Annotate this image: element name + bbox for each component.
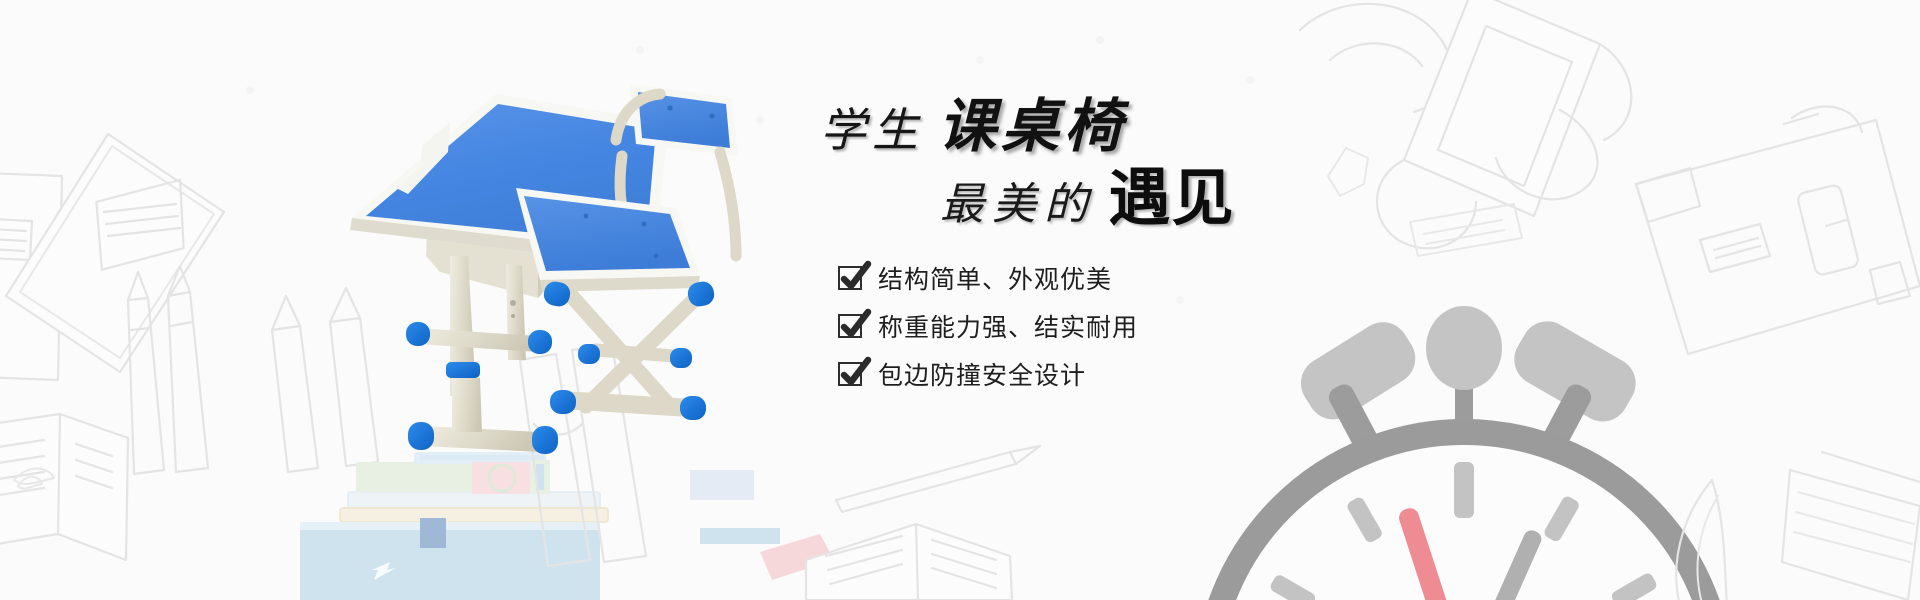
pencil-case-outline [1300,0,1631,248]
stacked-books [300,452,608,600]
product-image-desk-and-chair [300,60,820,460]
checkmark-icon [838,266,862,290]
feature-label: 结构简单、外观优美 [878,260,1112,296]
promo-banner: .ol { fill:none; stroke:#e4e4e4; stroke-… [0,0,1920,600]
star-outline [1328,148,1368,196]
open-book-outline [0,414,128,560]
satchel-bag-outline [1636,106,1920,354]
headline-line2-emphasis: 遇见 [1108,164,1234,233]
headline-line-2: 最美的 遇见 [940,168,1234,230]
feature-item: 结构简单、外观优美 [838,256,1138,300]
headline-line1-emphasis: 课桌椅 [938,94,1127,159]
notebooks-outline [0,134,224,380]
headline-line1-prefix: 学生 [820,105,924,156]
paper-stack-outline [1782,452,1920,600]
alarm-clock [1206,306,1722,600]
open-book-outline-center [806,524,1012,600]
feature-item: 称重能力强、结实耐用 [838,304,1138,348]
feature-label: 称重能力强、结实耐用 [878,308,1138,344]
feature-item: 包边防撞安全设计 [838,352,1138,396]
headline-line2-prefix: 最美的 [940,180,1096,229]
feature-list: 结构简单、外观优美 称重能力强、结实耐用 包边防撞安全设计 [838,256,1138,400]
feature-label: 包边防撞安全设计 [878,356,1086,392]
checkmark-icon [838,362,862,386]
pen-outline-center [836,446,1040,512]
checkmark-icon [838,314,862,338]
headline-line-1: 学生 课桌椅 [820,98,1127,156]
